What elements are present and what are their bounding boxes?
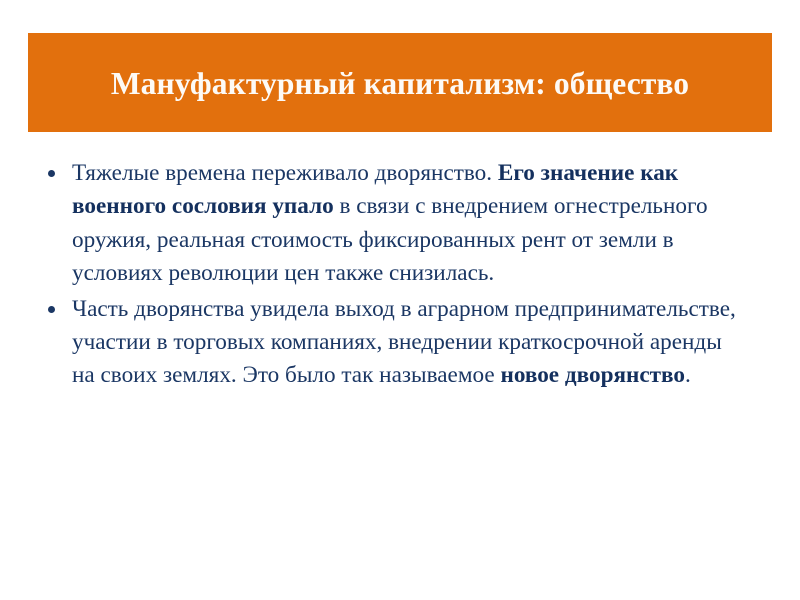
title-banner: Мануфактурный капитализм: общество — [28, 33, 772, 132]
bullet-dot-icon — [48, 306, 55, 313]
slide-title: Мануфактурный капитализм: общество — [101, 66, 699, 101]
presentation-slide: Мануфактурный капитализм: общество Тяжел… — [0, 0, 800, 600]
bullet-text: Часть дворянства увидела выход в аграрно… — [72, 293, 740, 393]
bullet-dot-icon — [48, 170, 55, 177]
bullet-text: Тяжелые времена переживало дворянство. Е… — [72, 157, 740, 291]
slide-body: Тяжелые времена переживало дворянство. Е… — [40, 157, 740, 395]
list-item: Часть дворянства увидела выход в аграрно… — [40, 293, 740, 393]
list-item: Тяжелые времена переживало дворянство. Е… — [40, 157, 740, 291]
